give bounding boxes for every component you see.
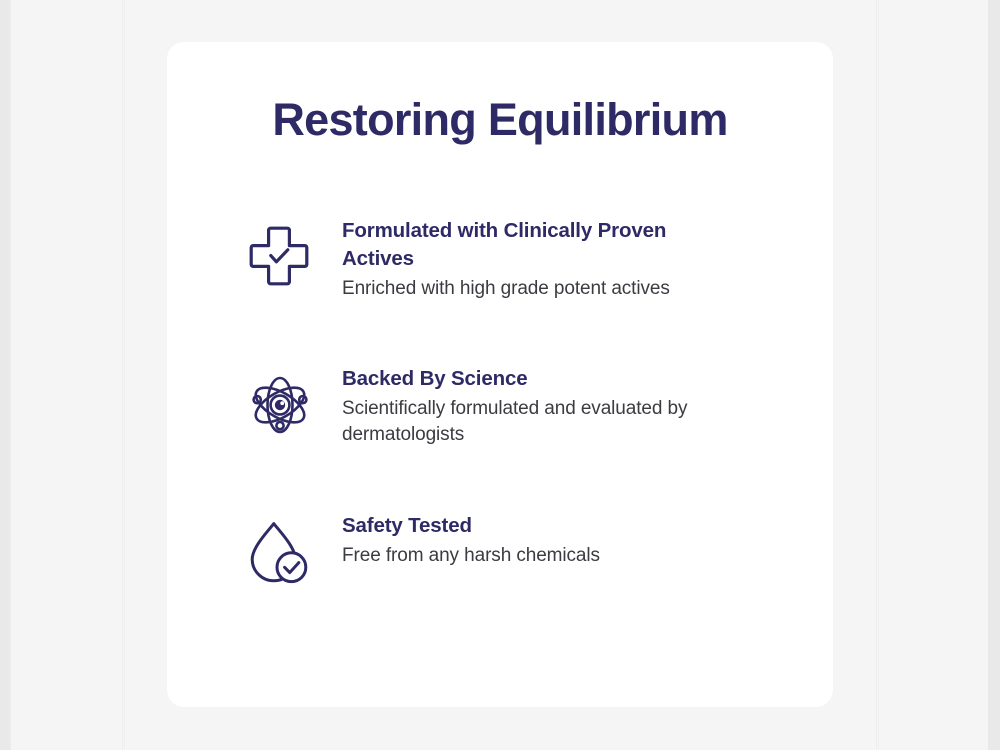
feature-list: Formulated with Clinically Proven Active… [248, 217, 768, 586]
feature-description: Scientifically formulated and evaluated … [342, 396, 734, 448]
feature-item: Formulated with Clinically Proven Active… [248, 217, 768, 302]
cross-check-icon [248, 217, 342, 287]
layout-guide-line [878, 0, 879, 750]
page-root: Restoring Equilibrium Formulated with Cl… [0, 0, 1000, 750]
layout-guide-line [10, 0, 11, 750]
feature-description: Enriched with high grade potent actives [342, 276, 734, 302]
droplet-check-icon [248, 512, 342, 586]
page-title: Restoring Equilibrium [167, 94, 833, 146]
feature-text: Safety Tested Free from any harsh chemic… [342, 512, 768, 569]
page-background-band-right [988, 0, 1000, 750]
feature-item: Backed By Science Scientifically formula… [248, 365, 768, 448]
layout-guide-line [124, 0, 125, 750]
atom-icon [248, 365, 342, 437]
feature-text: Formulated with Clinically Proven Active… [342, 217, 768, 302]
feature-text: Backed By Science Scientifically formula… [342, 365, 768, 448]
feature-title: Backed By Science [342, 365, 734, 393]
layout-guide-line [876, 0, 877, 750]
feature-card: Restoring Equilibrium Formulated with Cl… [167, 42, 833, 707]
page-background-band-left [0, 0, 10, 750]
feature-description: Free from any harsh chemicals [342, 543, 734, 569]
feature-title: Safety Tested [342, 512, 734, 540]
feature-title: Formulated with Clinically Proven Active… [342, 217, 734, 273]
layout-guide-line [122, 0, 123, 750]
feature-item: Safety Tested Free from any harsh chemic… [248, 512, 768, 586]
